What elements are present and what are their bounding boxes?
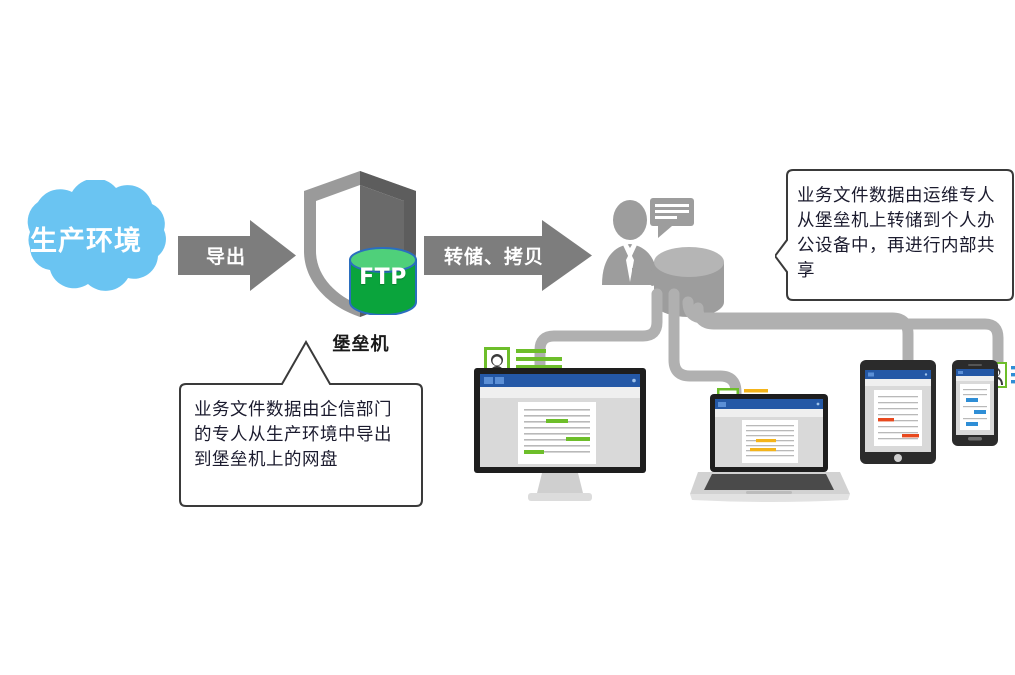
ftp-label: FTP <box>348 265 418 290</box>
laptop-device <box>690 382 855 512</box>
bastion-host-shield: FTP <box>290 165 430 325</box>
laptop-icon <box>690 382 855 512</box>
diagram-canvas: 生产环境 导出 FTP 堡垒机 转储、拷贝 <box>0 0 1015 675</box>
tablet-device <box>858 358 948 468</box>
monitor-icon <box>470 340 675 510</box>
smartphone-device <box>944 358 1015 448</box>
callout-left: 业务文件数据由企信部门的专人从生产环境中导出到堡垒机上的网盘 <box>172 338 430 508</box>
speech-bubble-icon <box>650 198 694 238</box>
arrow-export: 导出 <box>178 218 298 293</box>
tablet-icon <box>858 358 948 468</box>
cloud-label: 生产环境 <box>0 225 172 259</box>
smartphone-icon <box>944 358 1015 448</box>
callout-right: 业务文件数据由运维专人从堡垒机上转储到个人办公设备中，再进行内部共享 <box>775 168 1015 308</box>
arrow-transfer-copy-label: 转储、拷贝 <box>434 242 554 269</box>
desktop-monitor-device <box>470 340 675 510</box>
callout-right-text: 业务文件数据由运维专人从堡垒机上转储到个人办公设备中，再进行内部共享 <box>797 184 997 284</box>
production-environment-cloud: 生产环境 <box>0 180 185 310</box>
callout-left-text: 业务文件数据由企信部门的专人从生产环境中导出到堡垒机上的网盘 <box>194 398 408 473</box>
arrow-export-label: 导出 <box>186 242 266 269</box>
